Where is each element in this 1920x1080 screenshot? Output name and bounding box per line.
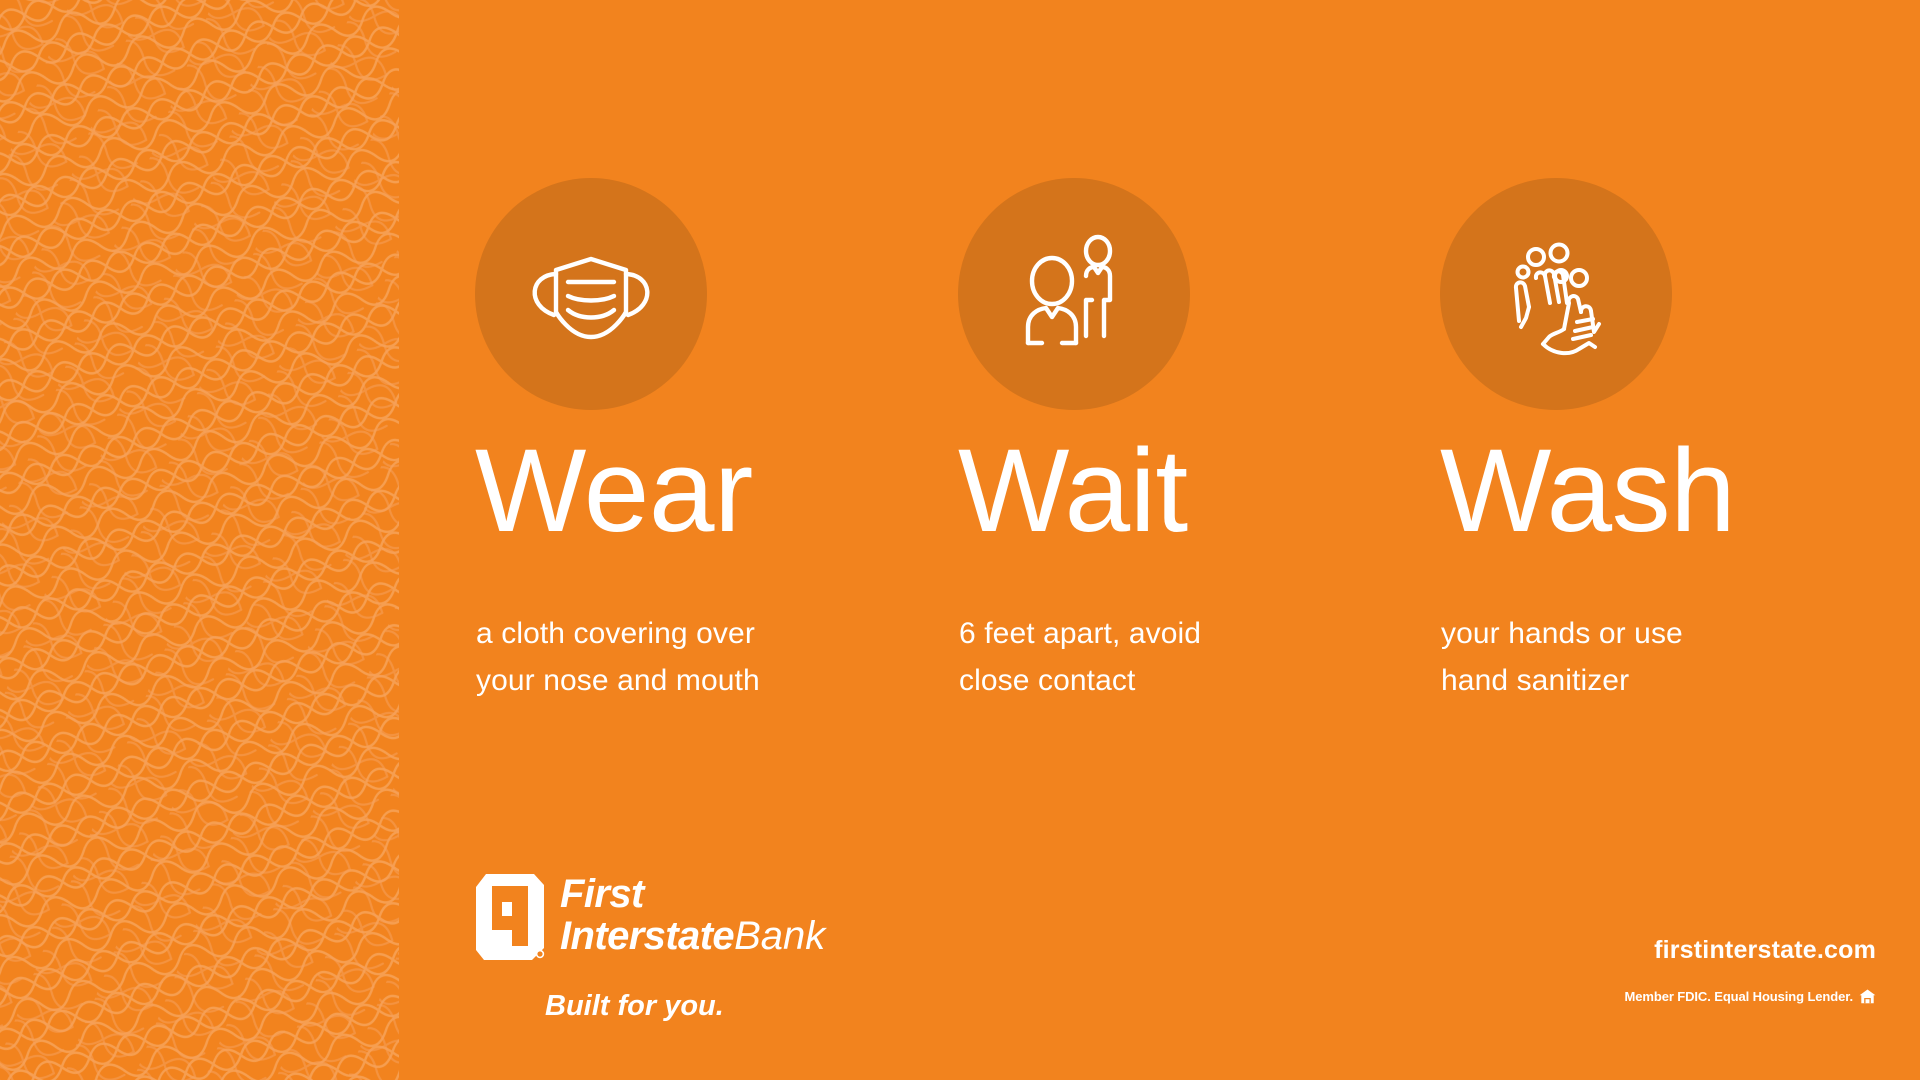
face-mask-icon — [516, 219, 666, 369]
social-distancing-people-icon — [999, 219, 1149, 369]
tip-column-wait: Wait 6 feet apart, avoid close contact — [958, 0, 1378, 1080]
brand-name-bank: Bank — [734, 914, 825, 958]
brand-name-line-2: InterstateBank — [560, 914, 825, 958]
headline-wait: Wait — [958, 432, 1188, 550]
body-line: a cloth covering over — [476, 610, 760, 657]
decorative-pattern-strip — [0, 0, 399, 1080]
tip-column-wash: Wash your hands or use hand sanitizer — [1440, 0, 1860, 1080]
brand-name-line-1: First — [560, 874, 825, 914]
equal-housing-opportunity-icon — [1859, 989, 1876, 1004]
footer-right-block: firstinterstate.com Member FDIC. Equal H… — [1625, 936, 1876, 1004]
icon-disc-wait — [958, 178, 1190, 410]
brand-tagline: Built for you. — [545, 990, 724, 1023]
disclosure-row: Member FDIC. Equal Housing Lender. — [1625, 989, 1876, 1004]
body-line: your nose and mouth — [476, 657, 760, 704]
body-copy-wash: your hands or use hand sanitizer — [1441, 610, 1683, 704]
brand-lockup: First InterstateBank Built for you. — [474, 872, 874, 1032]
body-line: close contact — [959, 657, 1201, 704]
icon-disc-wash — [1440, 178, 1672, 410]
body-line: hand sanitizer — [1441, 657, 1683, 704]
body-copy-wait: 6 feet apart, avoid close contact — [959, 610, 1201, 704]
body-line: your hands or use — [1441, 610, 1683, 657]
brand-name-interstate: Interstate — [560, 914, 734, 958]
body-copy-wear: a cloth covering over your nose and mout… — [476, 610, 760, 704]
body-line: 6 feet apart, avoid — [959, 610, 1201, 657]
fdic-disclosure-text: Member FDIC. Equal Housing Lender. — [1625, 989, 1853, 1004]
first-interstate-logo-mark — [474, 872, 546, 967]
washing-hands-icon — [1481, 219, 1631, 369]
headline-wear: Wear — [475, 432, 753, 550]
icon-disc-wear — [475, 178, 707, 410]
headline-wash: Wash — [1440, 432, 1735, 550]
poster-canvas: Wear a cloth covering over your nose and… — [0, 0, 1920, 1080]
website-url[interactable]: firstinterstate.com — [1625, 936, 1876, 965]
